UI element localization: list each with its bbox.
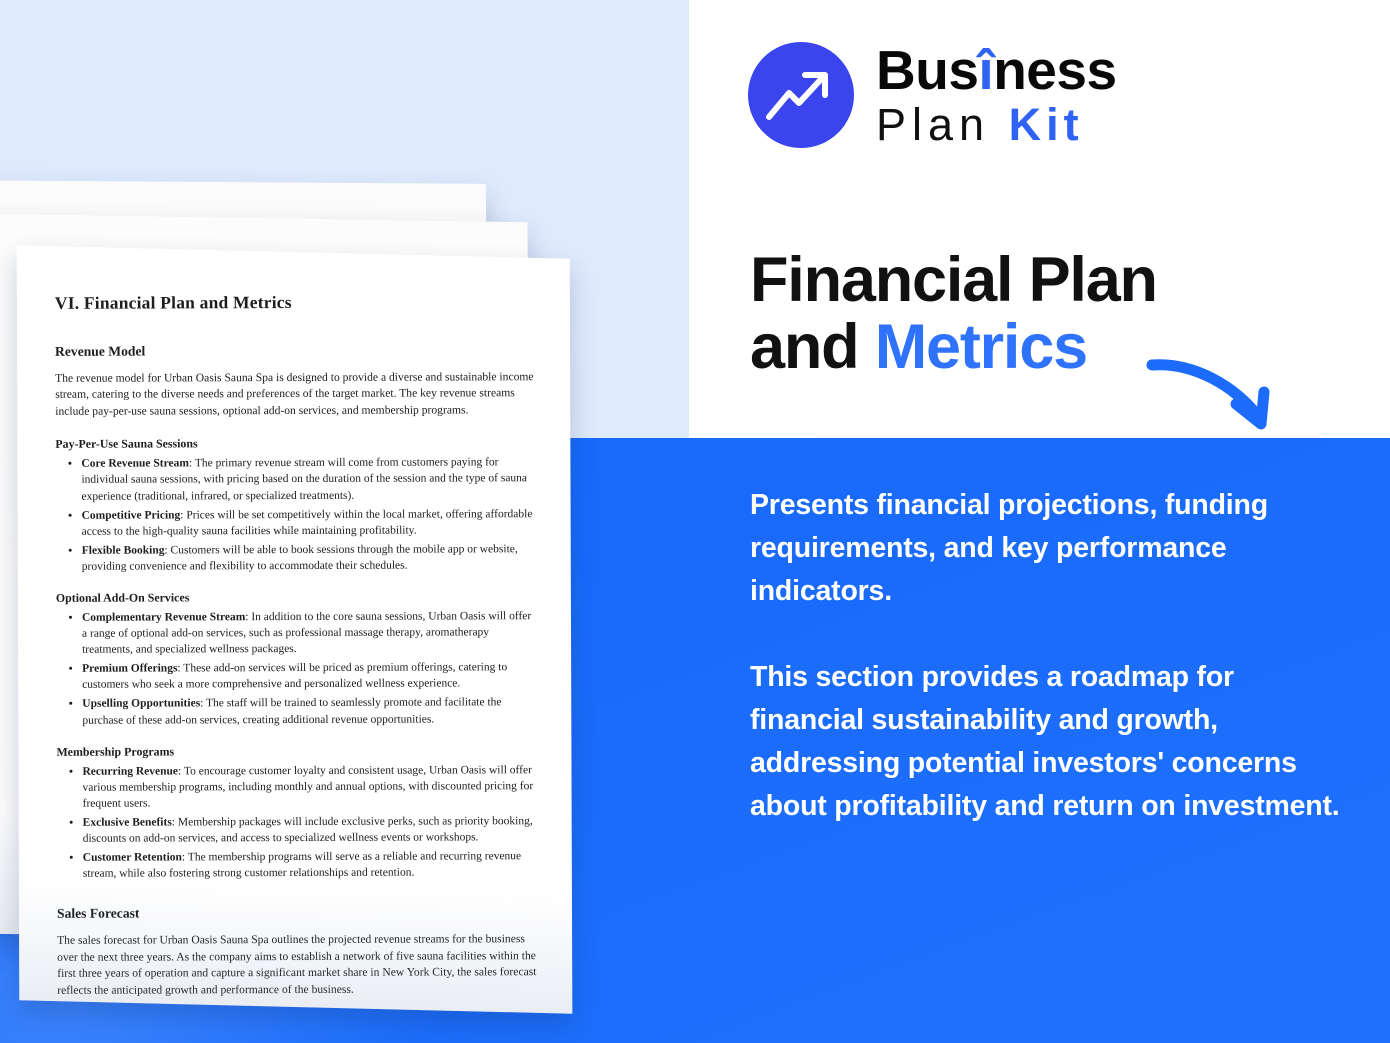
list-item: Recurring Revenue: To encourage customer… — [82, 762, 537, 812]
brand-name-line1: Busîness — [876, 43, 1117, 98]
list-item: Flexible Booking: Customers will be able… — [82, 541, 537, 575]
document-title: VI. Financial Plan and Metrics — [55, 291, 536, 314]
document-page-front: VI. Financial Plan and Metrics Revenue M… — [17, 245, 573, 1014]
curved-arrow-down-right-icon — [1146, 352, 1286, 436]
document-bullet-list: Complementary Revenue Stream: In additio… — [56, 608, 537, 728]
brand-name-line2: Plan Kit — [876, 102, 1117, 147]
document-section-heading: Revenue Model — [55, 342, 536, 360]
growth-chart-circle-icon — [748, 42, 854, 148]
document-stack: VI. Financial Plan and Metrics Revenue M… — [0, 150, 750, 1043]
brand-logo[interactable]: Busîness Plan Kit — [748, 42, 1117, 148]
document-forecast-heading: Sales Forecast — [57, 904, 538, 922]
slide-canvas: VI. Financial Plan and Metrics Revenue M… — [0, 0, 1390, 1043]
list-item: Customer Retention: The membership progr… — [83, 848, 538, 882]
document-bullet-list: Recurring Revenue: To encourage customer… — [56, 762, 537, 882]
document-bullet-list: Core Revenue Stream: The primary revenue… — [55, 455, 536, 575]
description-text: Presents financial projections, funding … — [750, 484, 1350, 827]
description-paragraph-1: Presents financial projections, funding … — [750, 484, 1350, 612]
list-item: Complementary Revenue Stream: In additio… — [82, 608, 537, 658]
document-group-heading: Membership Programs — [56, 743, 537, 760]
page-title-accent: Metrics — [875, 312, 1087, 382]
list-item: Premium Offerings: These add-on services… — [82, 659, 537, 693]
list-item: Exclusive Benefits: Membership packages … — [83, 813, 538, 847]
document-intro-paragraph: The revenue model for Urban Oasis Sauna … — [55, 369, 536, 420]
brand-kit-word: Kit — [1009, 99, 1084, 150]
page-title-line1: Financial Plan — [750, 247, 1350, 314]
circumflex-accent: î — [978, 39, 993, 101]
brand-logo-text: Busîness Plan Kit — [876, 43, 1117, 147]
list-item: Upselling Opportunities: The staff will … — [82, 695, 537, 729]
list-item: Core Revenue Stream: The primary revenue… — [81, 455, 536, 505]
description-paragraph-2: This section provides a roadmap for fina… — [750, 656, 1350, 827]
document-forecast-paragraph: The sales forecast for Urban Oasis Sauna… — [57, 931, 538, 998]
list-item: Competitive Pricing: Prices will be set … — [82, 506, 537, 540]
document-group-heading: Optional Add-On Services — [56, 589, 537, 606]
document-group-heading: Pay-Per-Use Sauna Sessions — [55, 436, 536, 453]
